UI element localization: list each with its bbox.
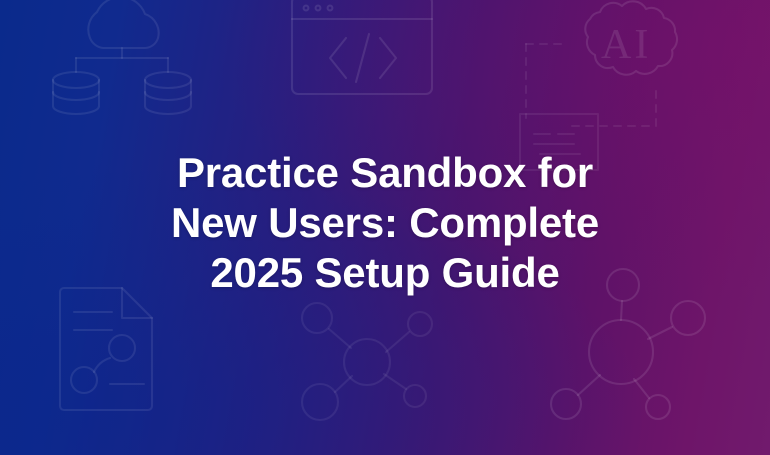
network-nodes-left-icon xyxy=(295,300,445,450)
dashed-connector-icon xyxy=(522,38,662,143)
hero-banner: AI xyxy=(0,0,770,455)
code-window-icon xyxy=(288,0,436,104)
page-title: Practice Sandbox for New Users: Complete… xyxy=(0,148,770,298)
ai-cloud-icon: AI xyxy=(556,0,696,106)
svg-text:AI: AI xyxy=(601,22,651,68)
cloud-database-icon xyxy=(46,0,198,112)
document-flow-icon xyxy=(56,286,164,414)
